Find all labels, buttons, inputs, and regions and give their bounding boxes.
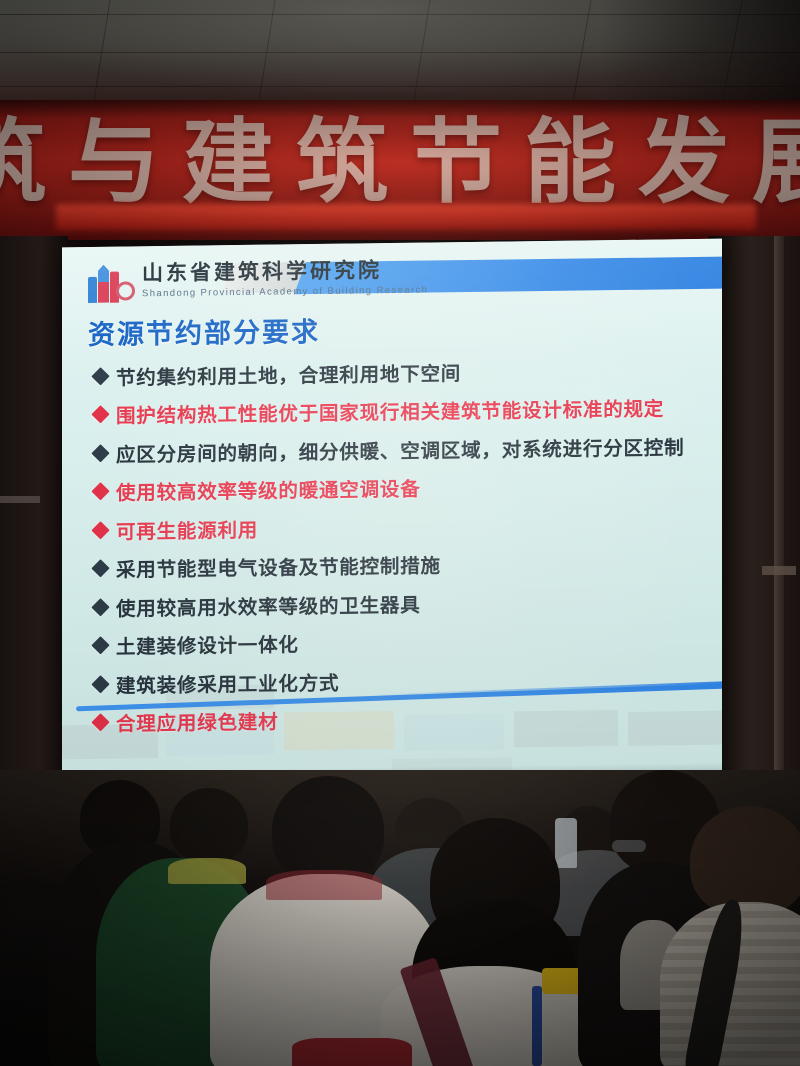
left-wall — [0, 236, 68, 836]
diamond-bullet-icon — [91, 521, 109, 539]
ceiling — [0, 0, 800, 108]
list-item: 合理应用绿色建材 — [94, 695, 708, 742]
red-banner: 筑与建筑节能发展 — [0, 100, 800, 240]
diamond-bullet-icon — [91, 636, 109, 654]
list-item-label: 节约集约利用土地，合理利用地下空间 — [116, 357, 461, 391]
diamond-bullet-icon — [91, 405, 109, 423]
slide-title: 资源节约部分要求 — [88, 310, 320, 352]
diamond-bullet-icon — [91, 482, 109, 500]
diamond-bullet-icon — [91, 559, 109, 577]
list-item-label: 使用较高用水效率等级的卫生器具 — [116, 588, 421, 621]
list-item-label: 土建装修设计一体化 — [116, 628, 299, 659]
diamond-bullet-icon — [91, 444, 109, 462]
bullet-list: 节约集约利用土地，合理利用地下空间 围护结构热工性能优于国家现行相关建筑节能设计… — [94, 349, 708, 742]
diamond-bullet-icon — [91, 598, 109, 616]
diamond-bullet-icon — [91, 675, 109, 693]
list-item-label: 应区分房间的朝向，细分供暖、空调区域，对系统进行分区控制 — [116, 431, 684, 467]
list-item-label: 使用较高效率等级的暖通空调设备 — [116, 473, 421, 506]
list-item-label: 建筑装修采用工业化方式 — [116, 666, 339, 698]
institute-name-en: Shandong Provincial Academy of Building … — [142, 285, 428, 300]
audience — [0, 770, 800, 1066]
list-item-label: 采用节能型电气设备及节能控制措施 — [116, 550, 441, 583]
institute-name-cn: 山东省建筑科学研究院 — [142, 258, 428, 286]
projection-screen: 山东省建筑科学研究院 Shandong Provincial Academy o… — [62, 239, 722, 808]
diamond-bullet-icon — [91, 713, 109, 731]
diamond-bullet-icon — [91, 367, 109, 385]
institute-logo: 山东省建筑科学研究院 Shandong Provincial Academy o… — [86, 257, 428, 303]
list-item-label: 围护结构热工性能优于国家现行相关建筑节能设计标准的规定 — [116, 393, 664, 429]
building-emblem-icon — [86, 260, 130, 303]
list-item-label: 可再生能源利用 — [116, 514, 258, 545]
list-item-label: 合理应用绿色建材 — [116, 706, 278, 737]
conference-photo: 筑与建筑节能发展 山东省建筑科学研 — [0, 0, 800, 1066]
